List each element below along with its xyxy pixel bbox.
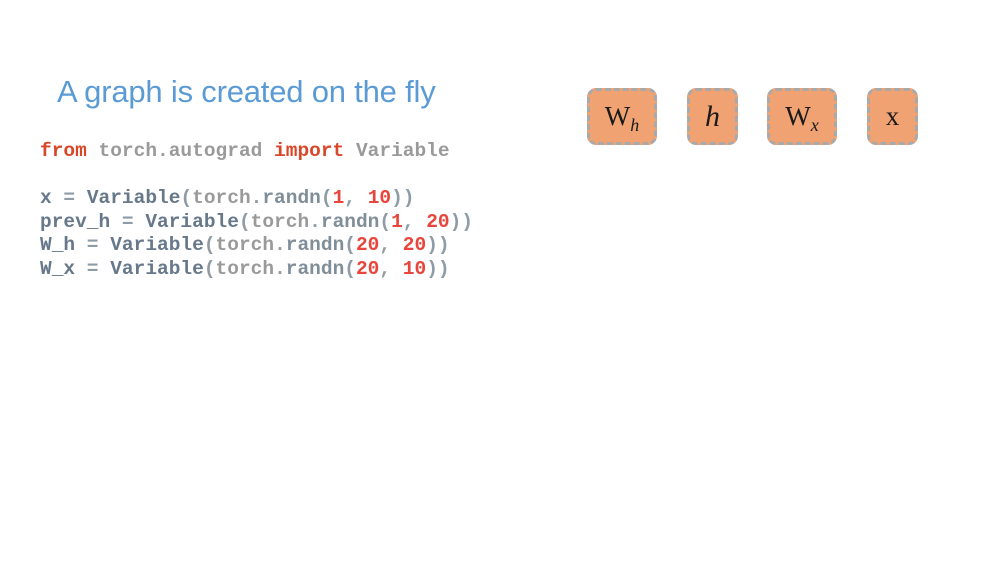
code-token-plain — [344, 140, 356, 162]
code-token-attr: randn — [262, 187, 321, 209]
code-token-number: 1 — [333, 187, 345, 209]
code-token-module: Variable — [356, 140, 450, 162]
code-token-number: 10 — [403, 258, 426, 280]
code-token-punc: )) — [391, 187, 414, 209]
code-token-name: W_h — [40, 234, 75, 256]
node-label-base: h — [705, 100, 720, 133]
code-token-name: prev_h — [40, 211, 110, 233]
code-token-name: Variable — [110, 234, 204, 256]
code-token-punc: )) — [426, 234, 449, 256]
code-token-punc: , — [403, 211, 426, 233]
code-token-module: torch.autograd — [99, 140, 263, 162]
code-token-number: 1 — [391, 211, 403, 233]
code-token-attr: randn — [286, 234, 345, 256]
code-token-punc: ( — [344, 234, 356, 256]
code-token-number: 20 — [403, 234, 426, 256]
code-token-keyword: from — [40, 140, 87, 162]
code-token-punc: ( — [204, 234, 216, 256]
node-h[interactable]: h — [687, 88, 738, 145]
code-token-name: x — [40, 187, 52, 209]
code-line: from torch.autograd import Variable — [40, 140, 473, 164]
node-label-subscript: h — [630, 115, 639, 135]
code-line: x = Variable(torch.randn(1, 10)) — [40, 187, 473, 211]
node-w-x[interactable]: Wx — [767, 88, 837, 145]
code-token-name: Variable — [145, 211, 239, 233]
code-token-number: 10 — [368, 187, 391, 209]
code-token-keyword: import — [274, 140, 344, 162]
code-token-punc: . — [274, 234, 286, 256]
code-token-module: torch — [216, 234, 275, 256]
code-token-punc: ( — [204, 258, 216, 280]
code-token-punc: ( — [379, 211, 391, 233]
code-token-punc: , — [379, 234, 402, 256]
code-token-punc: = — [75, 258, 110, 280]
code-line: W_h = Variable(torch.randn(20, 20)) — [40, 234, 473, 258]
node-label: Wx — [785, 103, 818, 130]
code-token-punc: )) — [426, 258, 449, 280]
page-title: A graph is created on the fly — [57, 74, 436, 110]
code-token-punc: = — [75, 234, 110, 256]
node-label: Wh — [605, 103, 639, 130]
code-token-punc: . — [251, 187, 263, 209]
code-token-number: 20 — [426, 211, 449, 233]
code-token-punc: . — [274, 258, 286, 280]
code-line — [40, 164, 473, 188]
code-token-punc: ( — [344, 258, 356, 280]
code-token-name: Variable — [87, 187, 181, 209]
node-label-base: W — [785, 101, 810, 131]
code-token-punc: , — [344, 187, 367, 209]
code-token-module: torch — [216, 258, 275, 280]
node-label-base: x — [886, 101, 900, 131]
node-label-subscript: x — [811, 115, 819, 135]
code-token-module: torch — [251, 211, 310, 233]
node-label: x — [886, 103, 900, 130]
code-token-name: W_x — [40, 258, 75, 280]
node-w-h[interactable]: Wh — [587, 88, 657, 145]
node-label-base: W — [605, 101, 630, 131]
code-line: prev_h = Variable(torch.randn(1, 20)) — [40, 211, 473, 235]
code-token-plain — [262, 140, 274, 162]
code-token-punc: = — [52, 187, 87, 209]
code-token-attr: randn — [321, 211, 380, 233]
code-snippet: from torch.autograd import Variable x = … — [40, 140, 473, 281]
code-token-punc: . — [309, 211, 321, 233]
node-x[interactable]: x — [867, 88, 918, 145]
code-token-number: 20 — [356, 234, 379, 256]
code-token-attr: randn — [286, 258, 345, 280]
code-token-punc: ( — [321, 187, 333, 209]
code-token-punc: ( — [180, 187, 192, 209]
code-line: W_x = Variable(torch.randn(20, 10)) — [40, 258, 473, 282]
code-token-name: Variable — [110, 258, 204, 280]
code-token-punc: )) — [450, 211, 473, 233]
code-token-punc: ( — [239, 211, 251, 233]
code-token-module: torch — [192, 187, 251, 209]
code-token-plain — [87, 140, 99, 162]
node-label: h — [705, 102, 720, 132]
code-token-punc: = — [110, 211, 145, 233]
code-token-number: 20 — [356, 258, 379, 280]
code-token-punc: , — [379, 258, 402, 280]
